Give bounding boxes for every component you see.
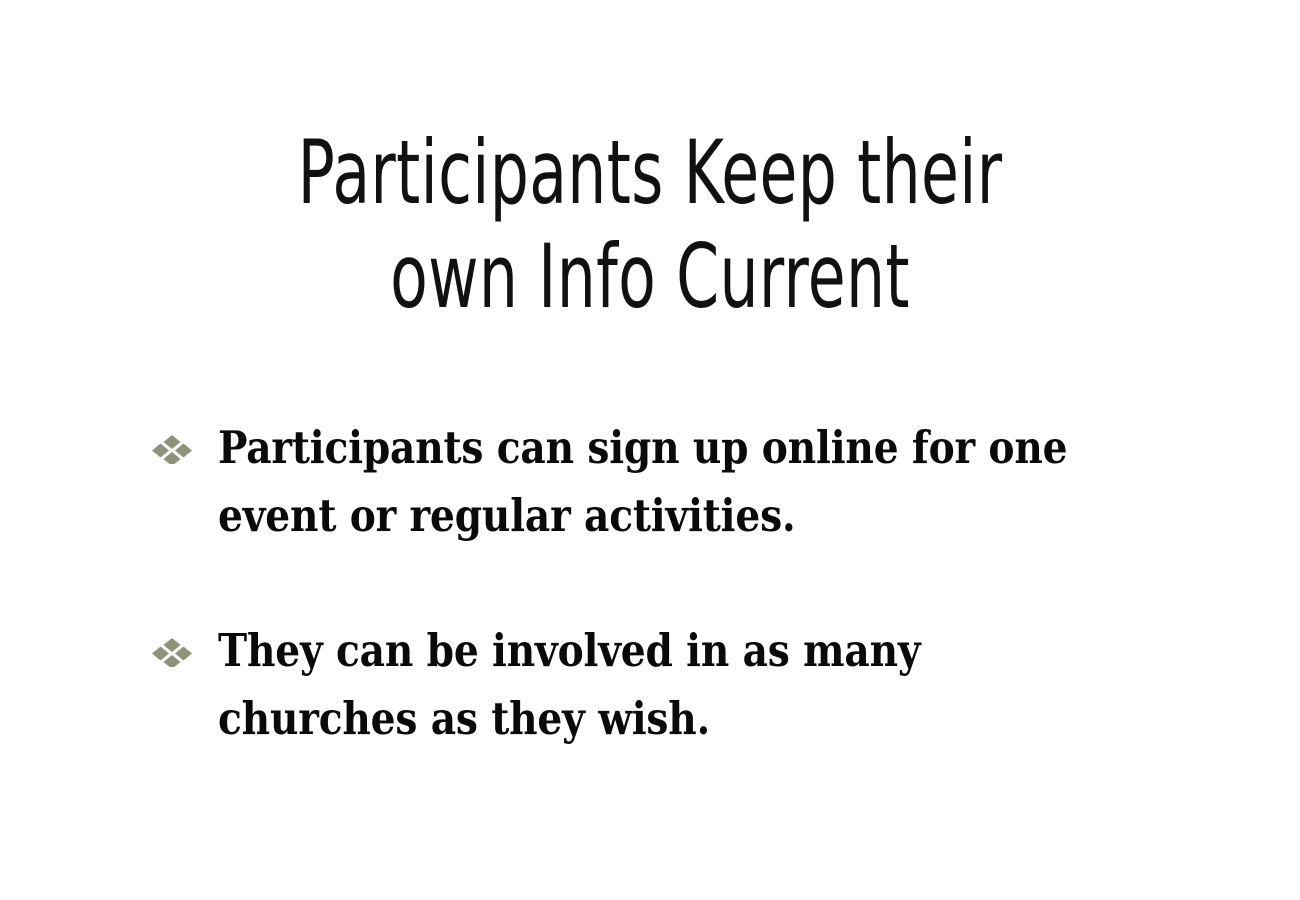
four-diamond-bullet-icon	[152, 637, 192, 667]
bullet-text-line: Participants can sign up online for one	[218, 414, 1067, 482]
bullet-text-line: They can be involved in as many	[218, 617, 1039, 685]
bullet-text-line: churches as they wish.	[218, 685, 1039, 753]
four-diamond-bullet-icon	[152, 434, 192, 464]
slide-title-line-2: own Info Current	[195, 225, 1105, 329]
slide-body: Participants can sign up online for one …	[152, 414, 1162, 752]
bullet-text: Participants can sign up online for one …	[218, 414, 1067, 549]
bullet-item: They can be involved in as many churches…	[152, 617, 1162, 752]
presentation-slide: Participants Keep their own Info Current…	[0, 0, 1300, 900]
slide-title-line-1: Participants Keep their	[195, 121, 1105, 225]
slide-title: Participants Keep their own Info Current	[195, 121, 1105, 329]
bullet-text-line: event or regular activities.	[218, 482, 1067, 550]
bullet-text: They can be involved in as many churches…	[218, 617, 1039, 752]
bullet-item: Participants can sign up online for one …	[152, 414, 1162, 549]
